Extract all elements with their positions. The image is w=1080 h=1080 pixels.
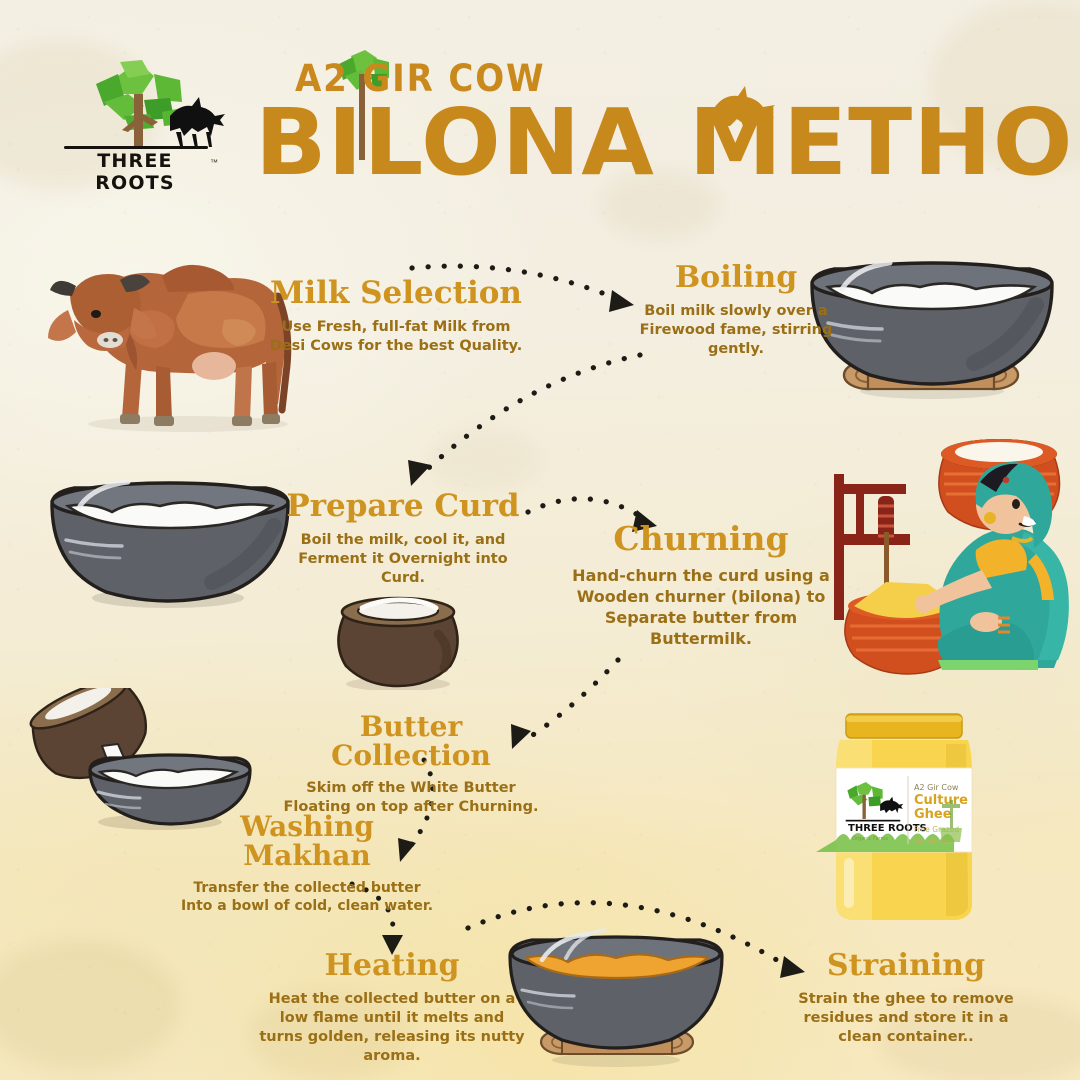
tree-with-cow-logo-icon <box>58 54 228 154</box>
jar-line3: Ghee <box>914 807 952 822</box>
arrow-curd-to-churning <box>528 499 646 520</box>
cow-silhouette-icon <box>170 97 225 148</box>
bowl-of-milk-illustration <box>42 468 300 610</box>
step-body: Boil milk slowly over a Firewood fame, s… <box>620 302 852 359</box>
jar-brand-sub: Organic Farms <box>852 836 888 842</box>
jar-line1: A2 Gir Cow <box>914 783 959 792</box>
step-body: Boil the milk, cool it, and Ferment it O… <box>278 531 528 588</box>
woman-churning-curd-illustration <box>820 412 1080 680</box>
step-body: Hand-churn the curd using a Wooden churn… <box>556 565 846 649</box>
step-body: Use Fresh, full-fat Milk from Desi Cows … <box>262 318 530 356</box>
step-boiling: Boiling Boil milk slowly over a Firewood… <box>620 262 852 359</box>
pot-pouring-into-bowl-illustration <box>28 688 254 832</box>
brand-name: THREE ROOTS <box>60 150 210 194</box>
page-title: BILONA METHOD <box>255 101 887 186</box>
step-prepare-curd: Prepare Curd Boil the milk, cool it, and… <box>278 490 528 588</box>
ghee-jar-illustration: THREE ROOTS Organic Farms A2 Gir Cow Cul… <box>810 708 998 926</box>
step-straining: Straining Strain the ghee to remove resi… <box>782 950 1030 1047</box>
bowl-of-ghee-over-fire-illustration <box>500 918 732 1070</box>
infographic-canvas: THREE ROOTS ™ A2 GIR COW BILONA METHOD .… <box>0 0 1080 1080</box>
arrow-boiling-to-curd <box>418 355 640 478</box>
step-washing-makhan: Washing Makhan Transfer the collected bu… <box>176 812 438 916</box>
jar-line2: Culture <box>914 793 968 808</box>
step-title: Washing Makhan <box>176 812 438 871</box>
trademark-symbol: ™ <box>210 158 218 167</box>
step-title: Heating <box>258 950 526 982</box>
earthen-pot-with-butter-illustration <box>322 578 474 690</box>
step-title: Butter Collection <box>280 712 542 771</box>
step-churning: Churning Hand-churn the curd using a Woo… <box>556 522 846 649</box>
step-body: Heat the collected butter on a low flame… <box>258 990 526 1067</box>
step-heating: Heating Heat the collected butter on a l… <box>258 950 526 1066</box>
step-title: Prepare Curd <box>278 490 528 523</box>
step-butter-collection: Butter Collection Skim off the White But… <box>280 712 542 817</box>
logo-underline <box>64 146 208 149</box>
brand-logo[interactable]: THREE ROOTS ™ <box>58 62 228 187</box>
step-body: Strain the ghee to remove residues and s… <box>782 990 1030 1047</box>
step-title: Milk Selection <box>262 277 530 310</box>
step-body: Transfer the collected butter Into a bow… <box>176 879 438 916</box>
step-title: Boiling <box>620 262 852 294</box>
title-block: A2 GIR COW BILONA METHOD <box>255 60 875 186</box>
step-title: Churning <box>556 522 846 557</box>
step-milk-selection: Milk Selection Use Fresh, full-fat Milk … <box>262 277 530 356</box>
step-title: Straining <box>782 950 1030 982</box>
